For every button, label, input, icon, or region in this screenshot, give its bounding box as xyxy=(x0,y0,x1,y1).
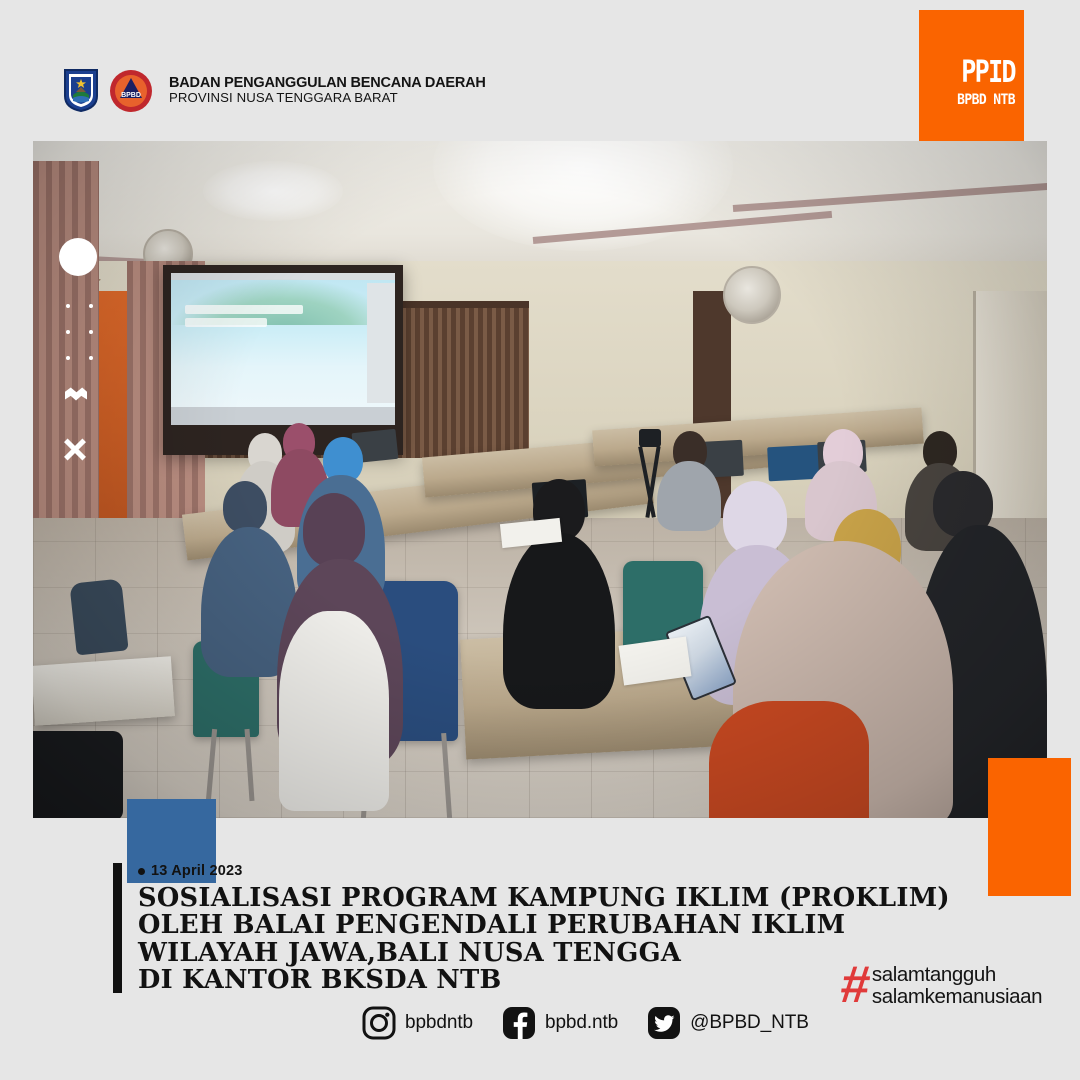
social-links-row: bpbdntb bpbd.ntb @BPBD_NTB xyxy=(362,1006,809,1040)
ppid-subtitle: BPBD NTB xyxy=(957,93,1015,107)
slide-taskbar xyxy=(171,407,395,425)
camera-body xyxy=(639,429,661,447)
org-name-line1: BADAN PENGANGGULAN BENCANA DAERAH xyxy=(169,76,486,91)
date-row: 13 April 2023 xyxy=(138,863,975,879)
title-line-1: SOSIALISASI PROGRAM KAMPUNG IKLIM (PROKL… xyxy=(138,884,950,911)
dark-chair-foreground xyxy=(33,731,123,818)
person-head-9 xyxy=(303,493,365,567)
slide-title-line2 xyxy=(185,318,267,327)
title-line-4: DI KANTOR BKSDA NTB xyxy=(138,966,950,993)
event-photo xyxy=(33,141,1047,818)
person-head-10 xyxy=(723,481,787,555)
hashtag-icon: # xyxy=(839,964,870,1007)
ppid-title: PPID xyxy=(957,57,1015,88)
twitter-icon[interactable] xyxy=(647,1006,681,1040)
social-twitter[interactable]: @BPBD_NTB xyxy=(647,1006,809,1040)
poster-canvas: BPBD BADAN PENGANGGULAN BENCANA DAERAH P… xyxy=(0,0,1080,1080)
person-white-jacket xyxy=(279,611,389,811)
org-name-line2: PROVINSI NUSA TENGGARA BARAT xyxy=(169,91,486,104)
photo-scene xyxy=(33,141,1047,818)
slogan-words: salamtangguh salamkemanusiaan xyxy=(872,964,1042,1007)
slogan-line-1: salamtangguh xyxy=(872,963,996,986)
brand-text: BADAN PENGANGGULAN BENCANA DAERAH PROVIN… xyxy=(169,76,486,104)
ppid-badge-text: PPID BPBD NTB xyxy=(957,62,1015,106)
instagram-icon[interactable] xyxy=(362,1006,396,1040)
svg-text:BPBD: BPBD xyxy=(121,92,141,99)
slide-sidebar xyxy=(367,283,395,403)
slide-title-line1 xyxy=(185,305,303,314)
bpbd-logo-icon: BPBD xyxy=(109,69,153,113)
instagram-handle: bpbdntb xyxy=(405,1012,473,1034)
social-instagram[interactable]: bpbdntb xyxy=(362,1006,473,1040)
person-foreground-sleeve xyxy=(709,701,869,818)
twitter-handle: @BPBD_NTB xyxy=(690,1012,809,1034)
slogan-block: # salamtangguh salamkemanusiaan xyxy=(841,964,1042,1007)
title-line-2: OLEH BALAI PENGENDALI PERUBAHAN IKLIM xyxy=(138,911,950,938)
orange-accent-block xyxy=(988,758,1071,896)
facebook-icon[interactable] xyxy=(502,1006,536,1040)
ntb-provincial-seal-icon xyxy=(63,68,99,113)
brand-block: BPBD BADAN PENGANGGULAN BENCANA DAERAH P… xyxy=(63,68,486,113)
slogan-line-2: salamkemanusiaan xyxy=(872,985,1042,1008)
projector-screen-content xyxy=(171,273,395,425)
wall-fan-icon xyxy=(723,266,781,324)
side-desk xyxy=(33,656,175,726)
facebook-handle: bpbd.ntb xyxy=(545,1012,618,1034)
ppid-badge: PPID BPBD NTB xyxy=(919,10,1024,158)
projector-screen-frame xyxy=(163,265,403,455)
title-line-3: WILAYAH JAWA,BALI NUSA TENGGA xyxy=(138,939,950,966)
person-body-4 xyxy=(657,461,721,531)
ceiling-light-glow-2 xyxy=(203,161,343,221)
date-bullet-icon xyxy=(138,868,145,875)
backpack xyxy=(69,578,128,655)
person-head-7 xyxy=(223,481,267,533)
event-date: 13 April 2023 xyxy=(151,863,243,879)
social-facebook[interactable]: bpbd.ntb xyxy=(502,1006,618,1040)
title-vertical-rule xyxy=(113,863,122,993)
header-bar: BPBD BADAN PENGANGGULAN BENCANA DAERAH P… xyxy=(0,0,1080,141)
